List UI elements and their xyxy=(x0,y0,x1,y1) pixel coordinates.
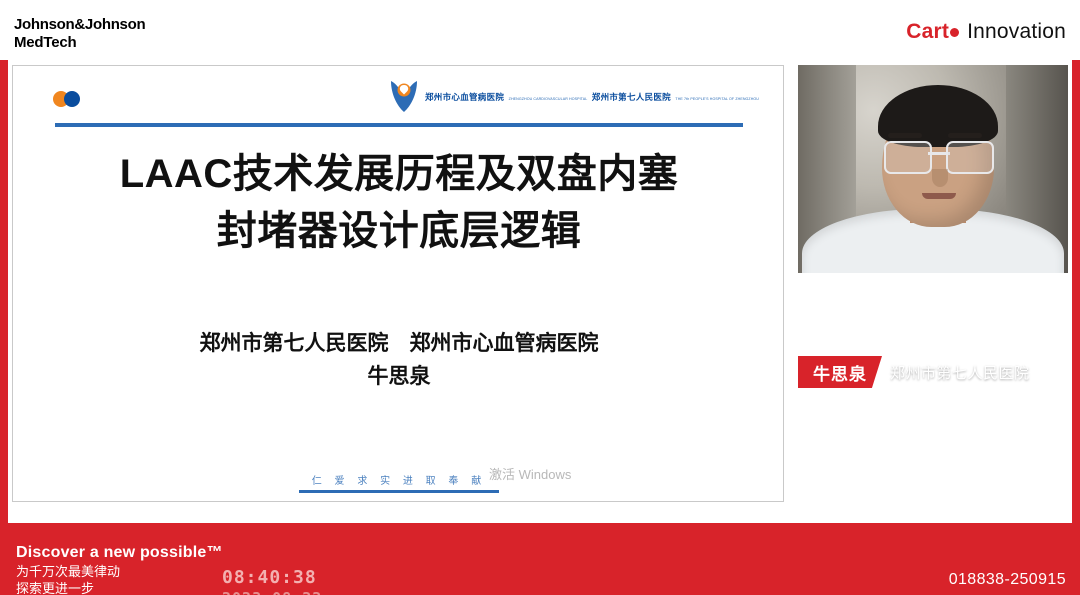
carto-wordmark: Cart xyxy=(906,20,960,44)
carto-innovation-label: Innovation xyxy=(967,20,1066,44)
brand-line-2: MedTech xyxy=(14,34,145,52)
slide-canvas[interactable]: 郑州市心血管病医院 ZHENGZHOU CARDIOVASCULAR HOSPI… xyxy=(12,65,784,502)
hospital-logo: 郑州市心血管病医院 ZHENGZHOU CARDIOVASCULAR HOSPI… xyxy=(387,78,759,114)
hospital-name-en-2: THE 7th PEOPLE'S HOSPITAL OF ZHENGZHOU xyxy=(675,97,759,101)
hospital-name-cn-1: 郑州市心血管病医院 xyxy=(425,92,504,102)
slide-decoration-dots xyxy=(53,91,80,107)
windows-activation-watermark: 激活 Windows xyxy=(489,464,571,483)
clock-time: 08:40:38 xyxy=(222,567,317,588)
slide-presenter-block: 郑州市第七人民医院 郑州市心血管病医院 牛思泉 xyxy=(13,328,784,393)
presenter-eyebrow-left xyxy=(888,133,922,138)
carto-dot-icon xyxy=(950,28,959,37)
slide-presenter-org: 郑州市第七人民医院 郑州市心血管病医院 xyxy=(13,328,784,361)
glasses-lens-left xyxy=(884,141,932,174)
brand-line-1: Johnson&Johnson xyxy=(14,16,145,34)
clock-date: 2023-08-22 xyxy=(222,589,322,595)
presenter-eyebrow-right xyxy=(948,133,982,138)
presenter-nose xyxy=(932,169,948,187)
slide-title-line-2: 封堵器设计底层逻辑 xyxy=(13,203,784,260)
left-red-rail xyxy=(0,60,8,523)
glasses-lens-right xyxy=(946,141,994,174)
blue-dot-icon xyxy=(64,91,80,107)
discover-line-1: Discover a new possible™ xyxy=(16,542,223,563)
hospital-logo-text: 郑州市心血管病医院 ZHENGZHOU CARDIOVASCULAR HOSPI… xyxy=(425,86,759,106)
discover-line-2: 为千万次最美律动 xyxy=(16,563,223,580)
slide-footer-bar xyxy=(299,490,499,493)
presenter-glasses-icon xyxy=(884,141,994,171)
slide-divider xyxy=(55,123,743,127)
carto-word-text: Cart xyxy=(906,20,949,43)
order-id-label: 018838-250915 xyxy=(949,571,1066,589)
presentation-stage: 郑州市心血管病医院 ZHENGZHOU CARDIOVASCULAR HOSPI… xyxy=(0,60,1080,523)
presenter-webcam-video[interactable] xyxy=(798,65,1068,273)
right-red-rail xyxy=(1072,60,1080,523)
presenter-name-plate: 牛思泉 郑州市第七人民医院 xyxy=(798,356,1053,388)
hospital-name-cn-2: 郑州市第七人民医院 xyxy=(592,92,671,102)
presenter-mouth xyxy=(922,193,956,199)
slide-footer-motto: 仁 爱 求 实 进 取 奉 献 xyxy=(13,472,784,487)
discover-line-3: 探索更进一步 xyxy=(16,580,223,595)
discover-tagline: Discover a new possible™ 为千万次最美律动 探索更进一步 xyxy=(16,542,223,595)
slide-footer: 仁 爱 求 实 进 取 奉 献 xyxy=(13,472,784,493)
hospital-name-en-1: ZHENGZHOU CARDIOVASCULAR HOSPITAL xyxy=(509,97,588,101)
carto-innovation-logo: Cart Innovation xyxy=(906,20,1066,44)
page-header: Johnson&Johnson MedTech Cart Innovation xyxy=(0,0,1080,60)
footer-banner: Discover a new possible™ 为千万次最美律动 探索更进一步… xyxy=(0,523,1080,595)
slide-title-line-1: LAAC技术发展历程及双盘内塞 xyxy=(13,146,784,203)
name-plate-name: 牛思泉 xyxy=(798,356,882,388)
hospital-mark-icon xyxy=(387,78,421,114)
johnson-johnson-logo: Johnson&Johnson MedTech xyxy=(14,16,145,51)
name-plate-organization: 郑州市第七人民医院 xyxy=(890,356,1030,388)
slide-presenter-name: 牛思泉 xyxy=(13,361,784,394)
slide-title: LAAC技术发展历程及双盘内塞 封堵器设计底层逻辑 xyxy=(13,146,784,260)
